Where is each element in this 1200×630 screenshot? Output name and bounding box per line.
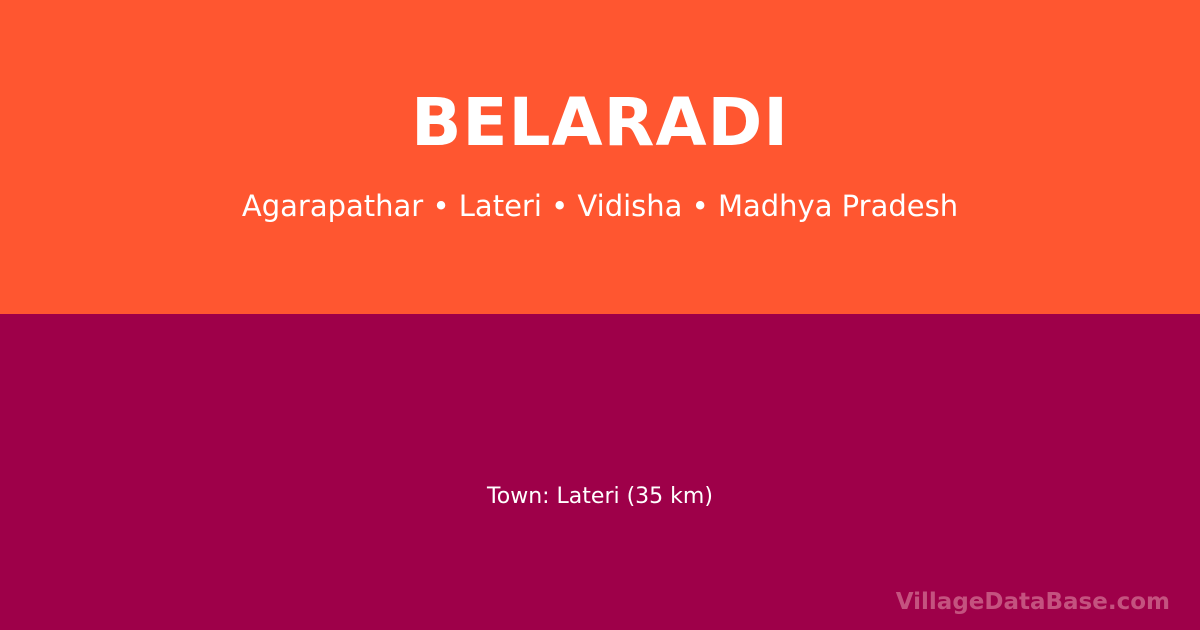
details-band: Town: Lateri (35 km) bbox=[0, 314, 1200, 630]
site-watermark: VillageDataBase.com bbox=[896, 591, 1170, 614]
nearest-town-label: Town: Lateri (35 km) bbox=[0, 486, 1200, 508]
header-band: BELARADI Agarapathar • Lateri • Vidisha … bbox=[0, 0, 1200, 314]
page-title: BELARADI bbox=[411, 90, 789, 156]
breadcrumb: Agarapathar • Lateri • Vidisha • Madhya … bbox=[242, 192, 958, 221]
village-info-card: BELARADI Agarapathar • Lateri • Vidisha … bbox=[0, 0, 1200, 630]
